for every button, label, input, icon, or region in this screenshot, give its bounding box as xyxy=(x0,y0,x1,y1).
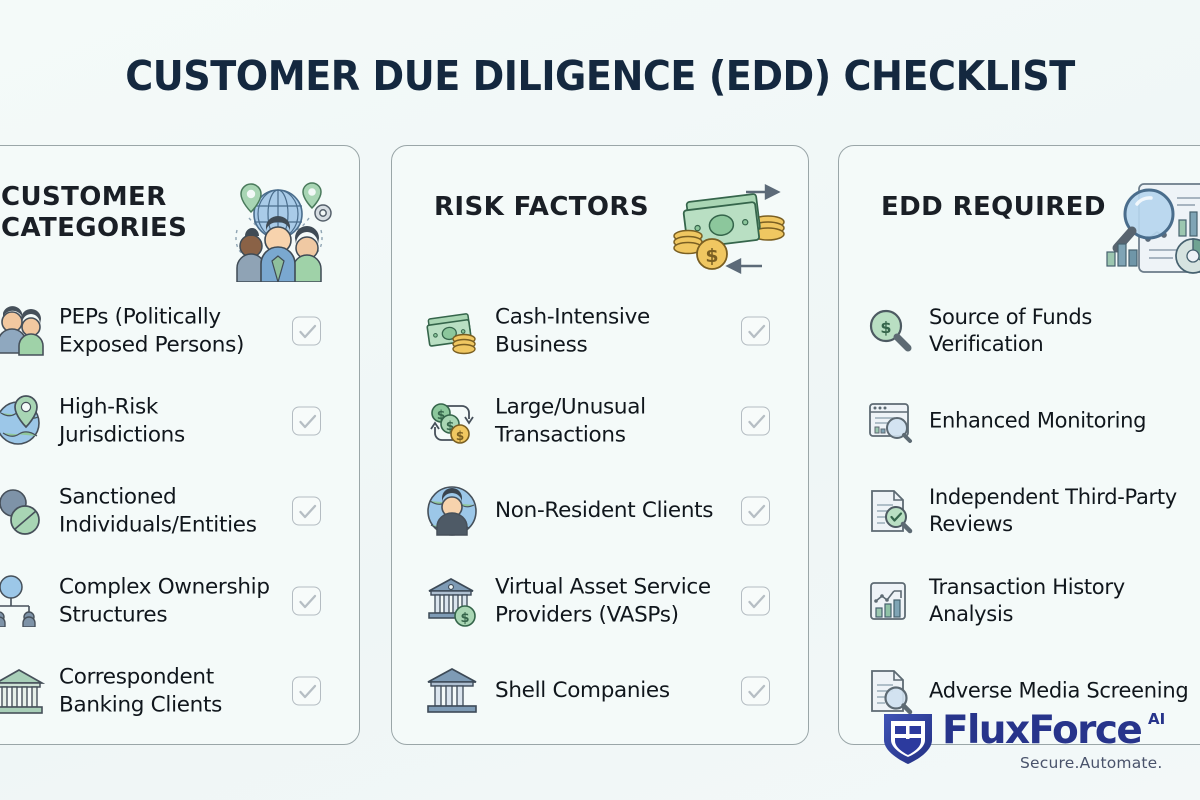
item-label: Complex Ownership Structures xyxy=(59,573,274,628)
checkbox[interactable] xyxy=(292,407,321,436)
list-item[interactable]: Independent Third-Party Reviews xyxy=(839,466,1200,556)
shield-icon xyxy=(880,708,936,766)
card-title: RISK FACTORS xyxy=(434,192,649,223)
item-label: Non-Resident Clients xyxy=(495,497,713,525)
list-item[interactable]: PEPs (Politically Exposed Persons) xyxy=(0,286,359,376)
list-item[interactable]: Cash-Intensive Business xyxy=(392,286,808,376)
card-header: CUSTOMER CATEGORIES xyxy=(0,172,359,282)
item-label: High-Risk Jurisdictions xyxy=(59,393,274,448)
item-label: Large/Unusual Transactions xyxy=(495,393,743,448)
browser-magnifier-icon xyxy=(867,398,913,444)
card-title: EDD REQUIRED xyxy=(881,192,1106,223)
bank-building-icon xyxy=(0,665,45,717)
checkbox[interactable] xyxy=(741,407,770,436)
magnifier-report-chart-icon xyxy=(1101,178,1200,282)
bank-building-icon xyxy=(426,665,478,717)
page-title: CUSTOMER DUE DILIGENCE (EDD) CHECKLIST xyxy=(42,52,1158,100)
list-item[interactable]: Enhanced Monitoring xyxy=(839,376,1200,466)
logo-superscript: AI xyxy=(1148,710,1165,728)
coin-exchange-icon: $ $ $ xyxy=(426,395,478,447)
chart-trend-icon xyxy=(867,578,913,624)
item-label: Source of Funds Verification xyxy=(929,304,1189,358)
globe-person-icon xyxy=(426,485,478,537)
checkbox[interactable] xyxy=(292,587,321,616)
list-item[interactable]: Correspondent Banking Clients xyxy=(0,646,359,736)
list-item[interactable]: Transaction History Analysis xyxy=(839,556,1200,646)
svg-text:$: $ xyxy=(456,429,464,443)
item-label: Sanctioned Individuals/Entities xyxy=(59,483,274,538)
item-label: Transaction History Analysis xyxy=(929,574,1189,628)
card-header: EDD REQUIRED xyxy=(839,172,1200,282)
list-item[interactable]: Shell Companies xyxy=(392,646,808,736)
checkbox[interactable] xyxy=(741,497,770,526)
list-item[interactable]: Complex Ownership Structures xyxy=(0,556,359,646)
card-risk-factors: RISK FACTORS xyxy=(391,145,809,745)
cash-flow-arrows-icon: $ xyxy=(668,178,786,282)
people-globe-network-icon xyxy=(219,178,337,282)
list-item[interactable]: Sanctioned Individuals/Entities xyxy=(0,466,359,556)
bank-dollar-icon: $ xyxy=(426,575,478,627)
brand-logo[interactable]: FluxForce AI Secure.Automate. xyxy=(880,706,1192,778)
item-label: PEPs (Politically Exposed Persons) xyxy=(59,303,274,358)
item-label: Adverse Media Screening xyxy=(929,678,1188,705)
item-label: Cash-Intensive Business xyxy=(495,303,743,358)
document-check-magnifier-icon xyxy=(867,488,913,534)
items-list: $ Source of Funds Verification xyxy=(839,286,1200,736)
checkbox[interactable] xyxy=(741,677,770,706)
checkbox[interactable] xyxy=(741,317,770,346)
item-label: Shell Companies xyxy=(495,677,670,705)
checkbox[interactable] xyxy=(741,587,770,616)
list-item[interactable]: $ $ $ Large/Unusual Transactions xyxy=(392,376,808,466)
list-item[interactable]: Non-Resident Clients xyxy=(392,466,808,556)
item-label: Independent Third-Party Reviews xyxy=(929,484,1189,538)
org-chart-icon xyxy=(0,575,45,627)
svg-text:$: $ xyxy=(705,245,718,267)
list-item[interactable]: $ Virtual Asset Service Providers (VASPs… xyxy=(392,556,808,646)
svg-text:$: $ xyxy=(460,611,469,626)
magnifier-dollar-icon: $ xyxy=(867,308,913,354)
svg-text:$: $ xyxy=(880,318,891,337)
cards-container: CUSTOMER CATEGORIES xyxy=(0,145,1200,750)
card-edd-required: EDD REQUIRED xyxy=(838,145,1200,745)
banknote-coins-icon xyxy=(426,305,478,357)
card-title: CUSTOMER CATEGORIES xyxy=(1,182,231,243)
list-item[interactable]: High-Risk Jurisdictions xyxy=(0,376,359,466)
card-customer-categories: CUSTOMER CATEGORIES xyxy=(0,145,360,745)
logo-tagline: Secure.Automate. xyxy=(1020,754,1163,772)
globe-pin-icon xyxy=(0,395,45,447)
item-label: Correspondent Banking Clients xyxy=(59,663,274,718)
checkbox[interactable] xyxy=(292,677,321,706)
item-label: Enhanced Monitoring xyxy=(929,408,1146,435)
person-shield-icon xyxy=(0,485,45,537)
two-people-icon xyxy=(0,305,45,357)
card-header: RISK FACTORS xyxy=(392,172,808,282)
list-item[interactable]: $ Source of Funds Verification xyxy=(839,286,1200,376)
checkbox[interactable] xyxy=(292,497,321,526)
items-list: Cash-Intensive Business $ xyxy=(392,286,808,736)
infographic-page: CUSTOMER DUE DILIGENCE (EDD) CHECKLIST C… xyxy=(0,0,1200,800)
logo-wordmark: FluxForce xyxy=(942,708,1141,753)
item-label: Virtual Asset Service Providers (VASPs) xyxy=(495,573,743,628)
items-list: PEPs (Politically Exposed Persons) xyxy=(0,286,359,736)
checkbox[interactable] xyxy=(292,317,321,346)
